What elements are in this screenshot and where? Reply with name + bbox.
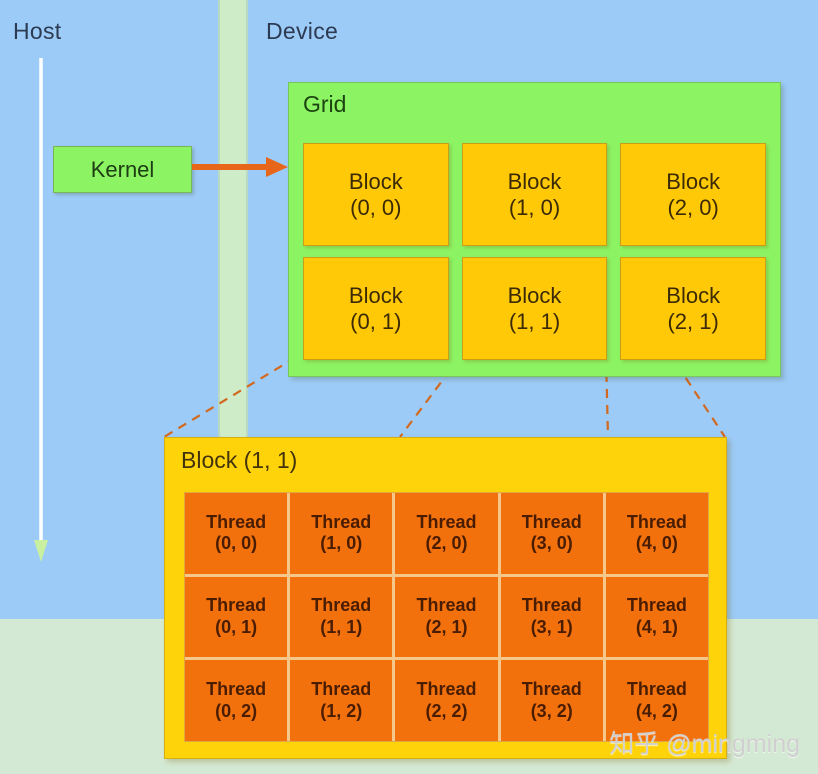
thread-cell-name: Thread [311, 595, 371, 617]
thread-cell-index: (1, 0) [320, 533, 362, 555]
thread-cell-name: Thread [416, 595, 476, 617]
diagram-canvas: Host Device Kernel Grid Block(0, 0)Block… [0, 0, 818, 774]
thread-cell-name: Thread [522, 512, 582, 534]
thread-cell-index: (4, 1) [636, 617, 678, 639]
arrow-down-icon [30, 58, 52, 562]
thread-cell[interactable]: Thread(4, 0) [606, 493, 708, 574]
thread-cell-name: Thread [522, 679, 582, 701]
thread-cell-name: Thread [206, 595, 266, 617]
grid-label: Grid [303, 91, 346, 118]
thread-cell-index: (3, 0) [531, 533, 573, 555]
thread-cell[interactable]: Thread(4, 1) [606, 577, 708, 658]
block-cell-index: (2, 0) [667, 195, 718, 221]
thread-cell-index: (4, 2) [636, 701, 678, 723]
thread-cell-index: (0, 2) [215, 701, 257, 723]
thread-cell-index: (2, 1) [425, 617, 467, 639]
block-grid: Block(0, 0)Block(1, 0)Block(2, 0)Block(0… [303, 143, 766, 360]
block-cell-index: (0, 0) [350, 195, 401, 221]
thread-cell-index: (3, 2) [531, 701, 573, 723]
block-detail-label: Block (1, 1) [181, 447, 297, 474]
block-cell-name: Block [508, 169, 562, 195]
block-cell[interactable]: Block(0, 0) [303, 143, 449, 246]
block-cell-name: Block [349, 169, 403, 195]
host-section-title: Host [13, 18, 62, 45]
thread-cell-index: (0, 0) [215, 533, 257, 555]
thread-cell[interactable]: Thread(2, 2) [395, 660, 497, 741]
block-cell-index: (1, 1) [509, 309, 560, 335]
block-cell[interactable]: Block(2, 1) [620, 257, 766, 360]
thread-cell-name: Thread [206, 679, 266, 701]
block-cell-name: Block [666, 169, 720, 195]
block-detail-panel: Block (1, 1) Thread(0, 0)Thread(1, 0)Thr… [164, 437, 727, 759]
thread-cell-index: (3, 1) [531, 617, 573, 639]
thread-cell-name: Thread [416, 512, 476, 534]
thread-cell[interactable]: Thread(3, 2) [501, 660, 603, 741]
block-cell[interactable]: Block(1, 0) [462, 143, 608, 246]
thread-cell-name: Thread [627, 512, 687, 534]
thread-cell-name: Thread [311, 679, 371, 701]
block-cell[interactable]: Block(0, 1) [303, 257, 449, 360]
thread-cell-name: Thread [206, 512, 266, 534]
thread-cell-name: Thread [627, 595, 687, 617]
thread-cell-name: Thread [311, 512, 371, 534]
block-cell-index: (1, 0) [509, 195, 560, 221]
thread-cell-index: (1, 2) [320, 701, 362, 723]
thread-cell[interactable]: Thread(1, 0) [290, 493, 392, 574]
thread-cell[interactable]: Thread(3, 0) [501, 493, 603, 574]
thread-cell-name: Thread [416, 679, 476, 701]
grid-panel: Grid Block(0, 0)Block(1, 0)Block(2, 0)Bl… [288, 82, 781, 377]
arrow-right-icon [192, 153, 288, 181]
block-cell-name: Block [349, 283, 403, 309]
thread-grid: Thread(0, 0)Thread(1, 0)Thread(2, 0)Thre… [184, 492, 709, 742]
block-cell-index: (2, 1) [667, 309, 718, 335]
thread-cell[interactable]: Thread(1, 1) [290, 577, 392, 658]
kernel-label: Kernel [91, 157, 155, 183]
thread-cell-name: Thread [627, 679, 687, 701]
block-cell-name: Block [666, 283, 720, 309]
thread-cell-index: (2, 2) [425, 701, 467, 723]
thread-cell[interactable]: Thread(0, 1) [185, 577, 287, 658]
device-section-title: Device [266, 18, 338, 45]
thread-cell-index: (0, 1) [215, 617, 257, 639]
block-cell[interactable]: Block(1, 1) [462, 257, 608, 360]
thread-cell[interactable]: Thread(3, 1) [501, 577, 603, 658]
block-cell[interactable]: Block(2, 0) [620, 143, 766, 246]
thread-cell-name: Thread [522, 595, 582, 617]
thread-cell[interactable]: Thread(2, 0) [395, 493, 497, 574]
thread-cell[interactable]: Thread(2, 1) [395, 577, 497, 658]
thread-cell[interactable]: Thread(0, 2) [185, 660, 287, 741]
kernel-box[interactable]: Kernel [53, 146, 192, 193]
thread-cell[interactable]: Thread(1, 2) [290, 660, 392, 741]
thread-cell-index: (1, 1) [320, 617, 362, 639]
block-cell-name: Block [508, 283, 562, 309]
thread-cell-index: (4, 0) [636, 533, 678, 555]
thread-cell-index: (2, 0) [425, 533, 467, 555]
thread-cell[interactable]: Thread(0, 0) [185, 493, 287, 574]
watermark: 知乎 @mingming [609, 724, 800, 760]
block-cell-index: (0, 1) [350, 309, 401, 335]
